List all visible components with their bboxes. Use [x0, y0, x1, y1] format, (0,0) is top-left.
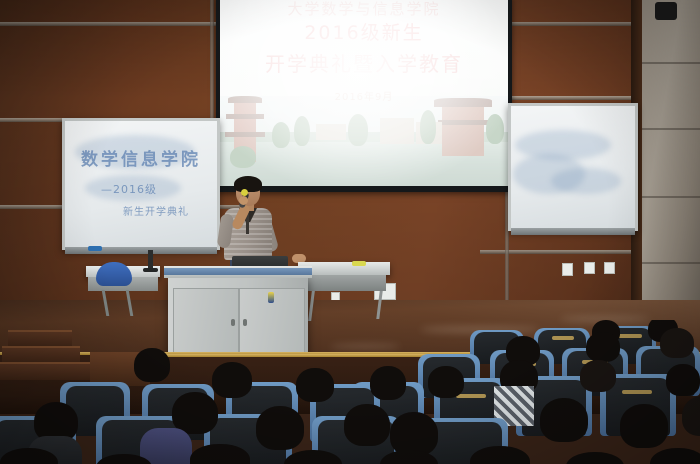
audience-head [212, 362, 252, 398]
wall-outlet[interactable] [604, 262, 615, 274]
console-lock-icon [268, 292, 274, 303]
audience-head [586, 332, 620, 362]
audience-head [682, 396, 700, 436]
audience-head [256, 406, 304, 450]
audience-head [370, 366, 406, 400]
whiteboard-right [508, 103, 638, 231]
blue-chair[interactable] [96, 262, 132, 286]
audience-head [650, 448, 700, 464]
audience-head [540, 398, 588, 442]
audience-head [660, 328, 694, 358]
whiteboard-left-line-2: —2016级 [101, 181, 157, 197]
auditorium-photo: 大学数学与信息学院 2016级新生 开学典礼暨入学教育 2016年9月 数学信息… [0, 0, 700, 464]
audience-head [344, 404, 390, 446]
audience-shoulders [140, 428, 192, 464]
audience-area [0, 320, 700, 464]
wall-speaker-icon [655, 2, 677, 20]
slide-line-1: 大学数学与信息学院 [220, 0, 508, 19]
stone-pillar [642, 0, 700, 330]
microphone-windscreen [241, 189, 248, 196]
whiteboard-left-line-3: 新生开学典礼 [123, 203, 189, 218]
speaker-hair [234, 176, 262, 192]
projection-screen: 大学数学与信息学院 2016级新生 开学典礼暨入学教育 2016年9月 [216, 0, 512, 192]
slide-line-2: 2016级新生 [220, 18, 508, 45]
audience-head [566, 452, 624, 464]
slide-date: 2016年9月 [220, 88, 508, 103]
audience-head [666, 364, 700, 396]
mic-stand [148, 250, 153, 270]
wall-outlet[interactable] [562, 263, 573, 276]
whiteboard-left: 数学信息学院 —2016级 新生开学典礼 [62, 118, 220, 250]
wall-outlet[interactable] [584, 262, 595, 274]
audience-head [580, 360, 616, 392]
audience-head [620, 404, 668, 448]
slide-campus-photo [220, 96, 508, 186]
slide-line-3: 开学典礼暨入学教育 [220, 48, 508, 77]
audience-head [296, 368, 334, 402]
desk-note [352, 261, 366, 266]
whiteboard-left-line-1: 数学信息学院 [81, 145, 201, 170]
audience-head [134, 348, 170, 382]
whiteboard-marker [88, 246, 102, 251]
marker-tray-right [511, 228, 635, 235]
audience-head [428, 366, 464, 398]
